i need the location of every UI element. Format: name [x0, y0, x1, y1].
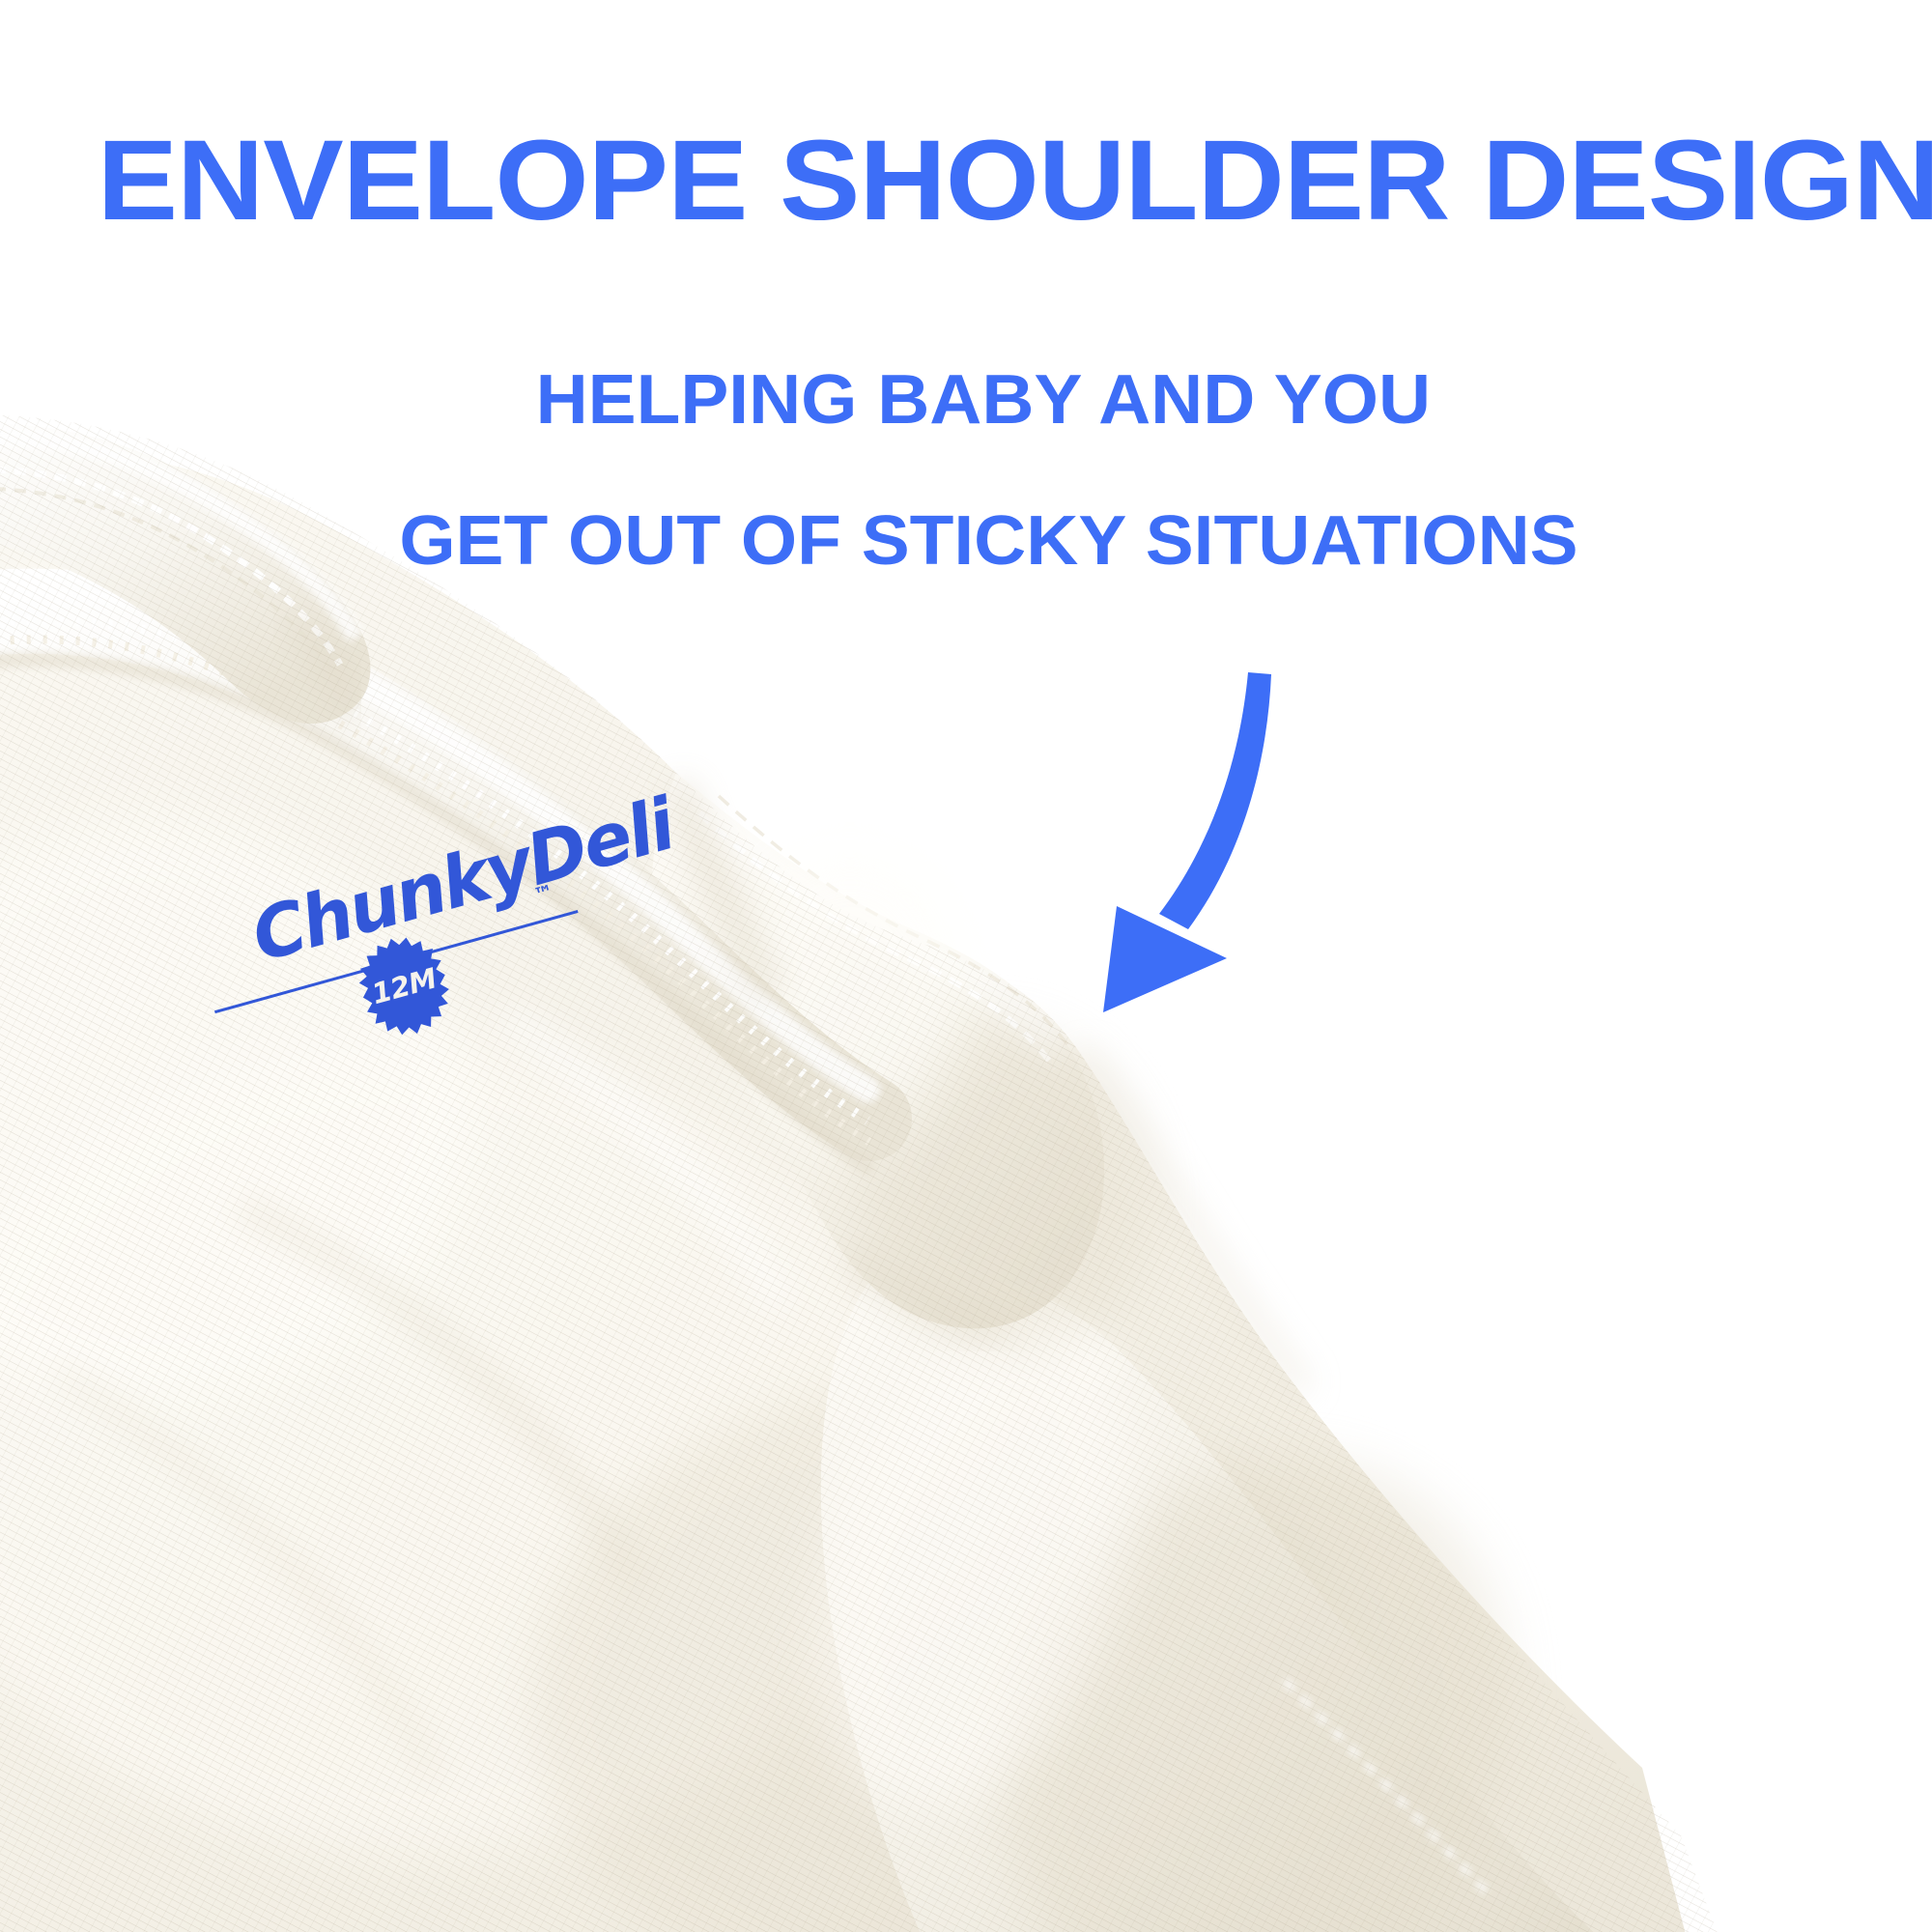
- product-feature-graphic: 12M ChunkyDeli ™ ENVELOPE SHOULDER DESIG…: [0, 0, 1932, 1932]
- subline-two: GET OUT OF STICKY SITUATIONS: [399, 506, 1577, 576]
- subline-one: HELPING BABY AND YOU: [536, 365, 1431, 435]
- headline: ENVELOPE SHOULDER DESIGN: [98, 124, 1932, 238]
- curved-arrow-down-left-icon: [1043, 647, 1410, 1053]
